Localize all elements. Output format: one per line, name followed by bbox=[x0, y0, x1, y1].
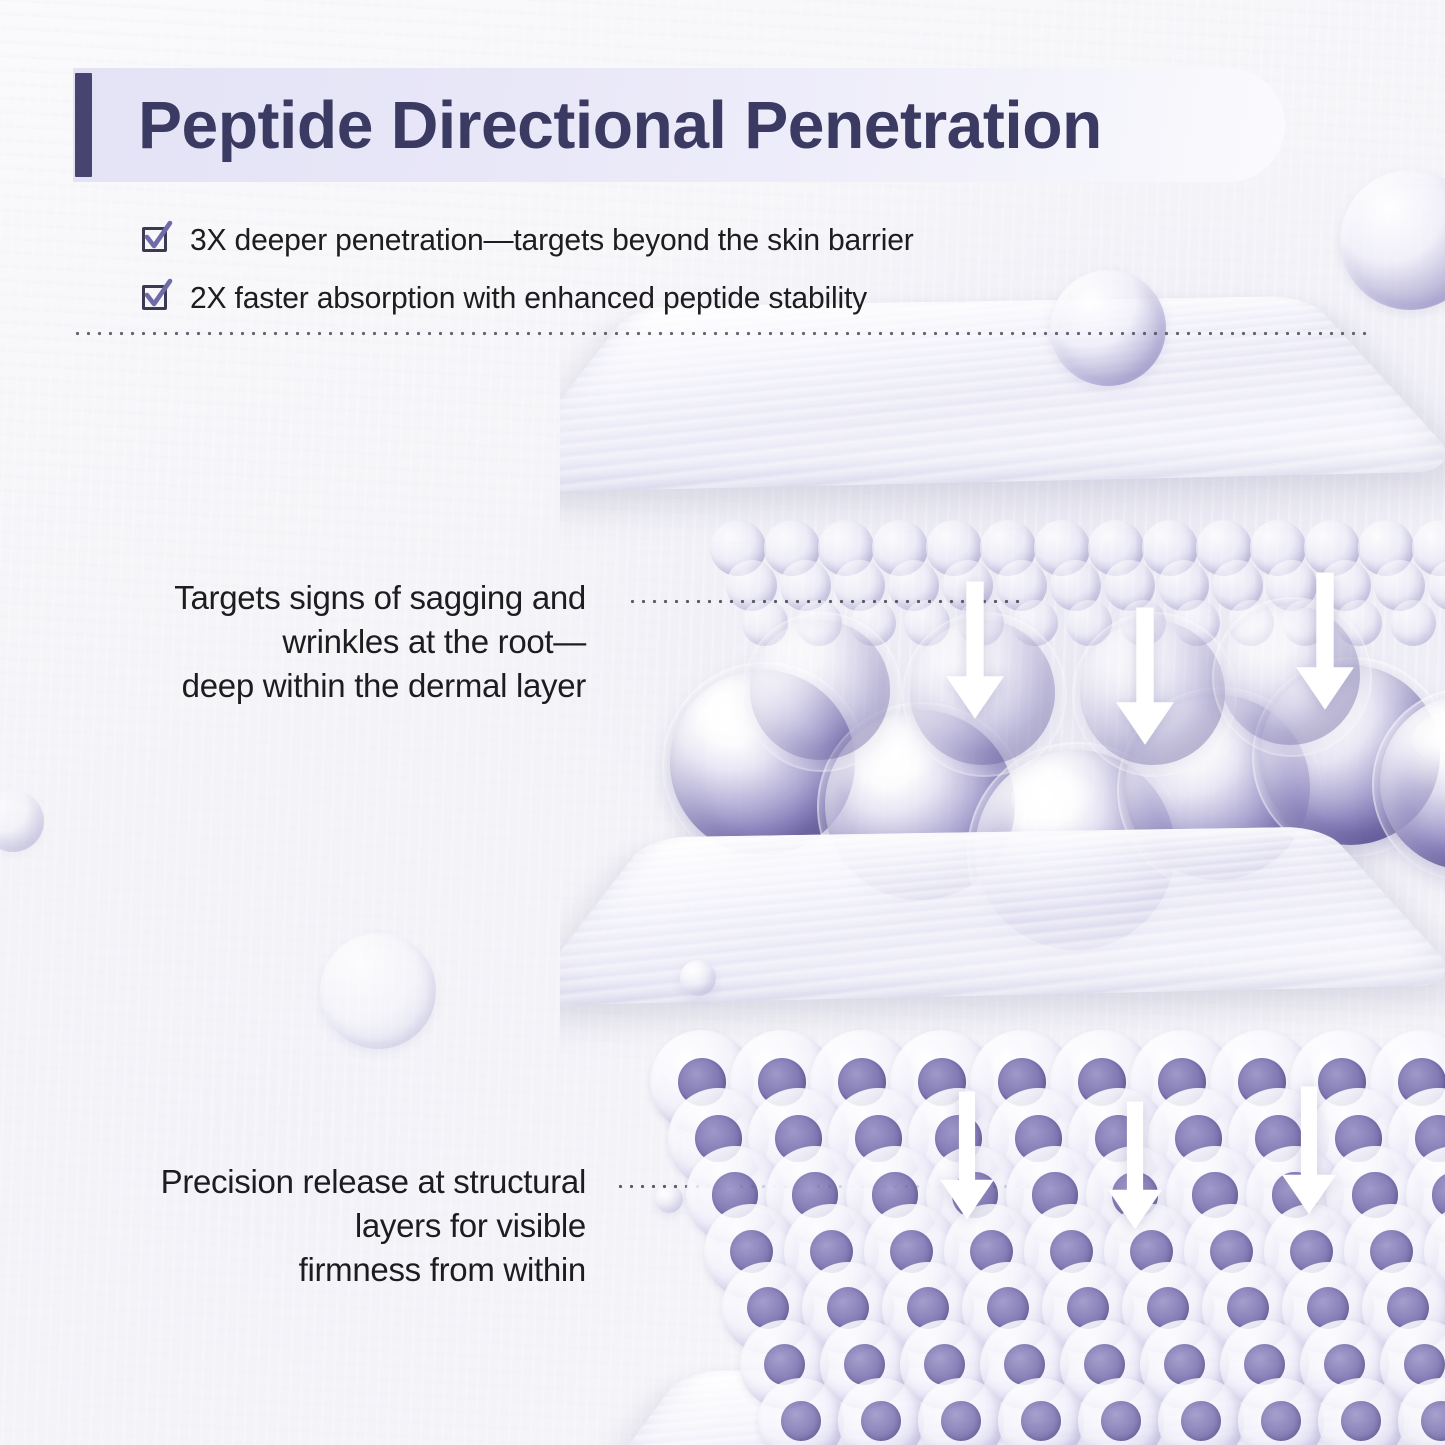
page-title: Peptide Directional Penetration bbox=[138, 69, 1102, 181]
header-divider bbox=[72, 331, 1372, 336]
checkbox-checked-icon bbox=[142, 283, 173, 314]
infographic-page: Peptide Directional Penetration 3X deepe… bbox=[0, 0, 1445, 1445]
caption-lower-line-2: layers for visible bbox=[90, 1204, 586, 1248]
list-item: 3X deeper penetration—targets beyond the… bbox=[142, 214, 1092, 266]
caption-upper-line-3: deep within the dermal layer bbox=[110, 664, 586, 708]
down-arrow-icon bbox=[1296, 570, 1354, 720]
caption-upper-line-2: wrinkles at the root— bbox=[110, 620, 586, 664]
title-accent-bar bbox=[75, 73, 92, 177]
down-arrow-icon bbox=[946, 580, 1004, 728]
caption-lower: Precision release at structural layers f… bbox=[90, 1160, 586, 1292]
caption-lower-line-1: Precision release at structural bbox=[90, 1160, 586, 1204]
caption-upper: Targets signs of sagging and wrinkles at… bbox=[110, 576, 586, 708]
down-arrow-icon bbox=[1282, 1085, 1336, 1223]
bubble-small-mid bbox=[680, 960, 716, 996]
bubble-tiny-low bbox=[655, 1185, 683, 1213]
benefit-list: 3X deeper penetration—targets beyond the… bbox=[142, 214, 1092, 330]
list-item-label: 3X deeper penetration—targets beyond the… bbox=[190, 222, 914, 258]
bubble-floating-left bbox=[320, 933, 436, 1049]
gel-bead bbox=[1390, 600, 1436, 646]
checkbox-checked-icon bbox=[142, 225, 173, 256]
list-item: 2X faster absorption with enhanced pepti… bbox=[142, 272, 1092, 324]
down-arrow-icon bbox=[1116, 605, 1174, 755]
pearl-capsule bbox=[750, 620, 890, 760]
list-item-label: 2X faster absorption with enhanced pepti… bbox=[190, 280, 867, 316]
bubble-large-right bbox=[1340, 170, 1445, 310]
down-arrow-icon bbox=[940, 1090, 994, 1228]
down-arrow-icon bbox=[1108, 1100, 1162, 1238]
caption-lower-line-3: firmness from within bbox=[90, 1248, 586, 1292]
caption-upper-line-1: Targets signs of sagging and bbox=[110, 576, 586, 620]
product-artwork bbox=[560, 150, 1445, 1445]
